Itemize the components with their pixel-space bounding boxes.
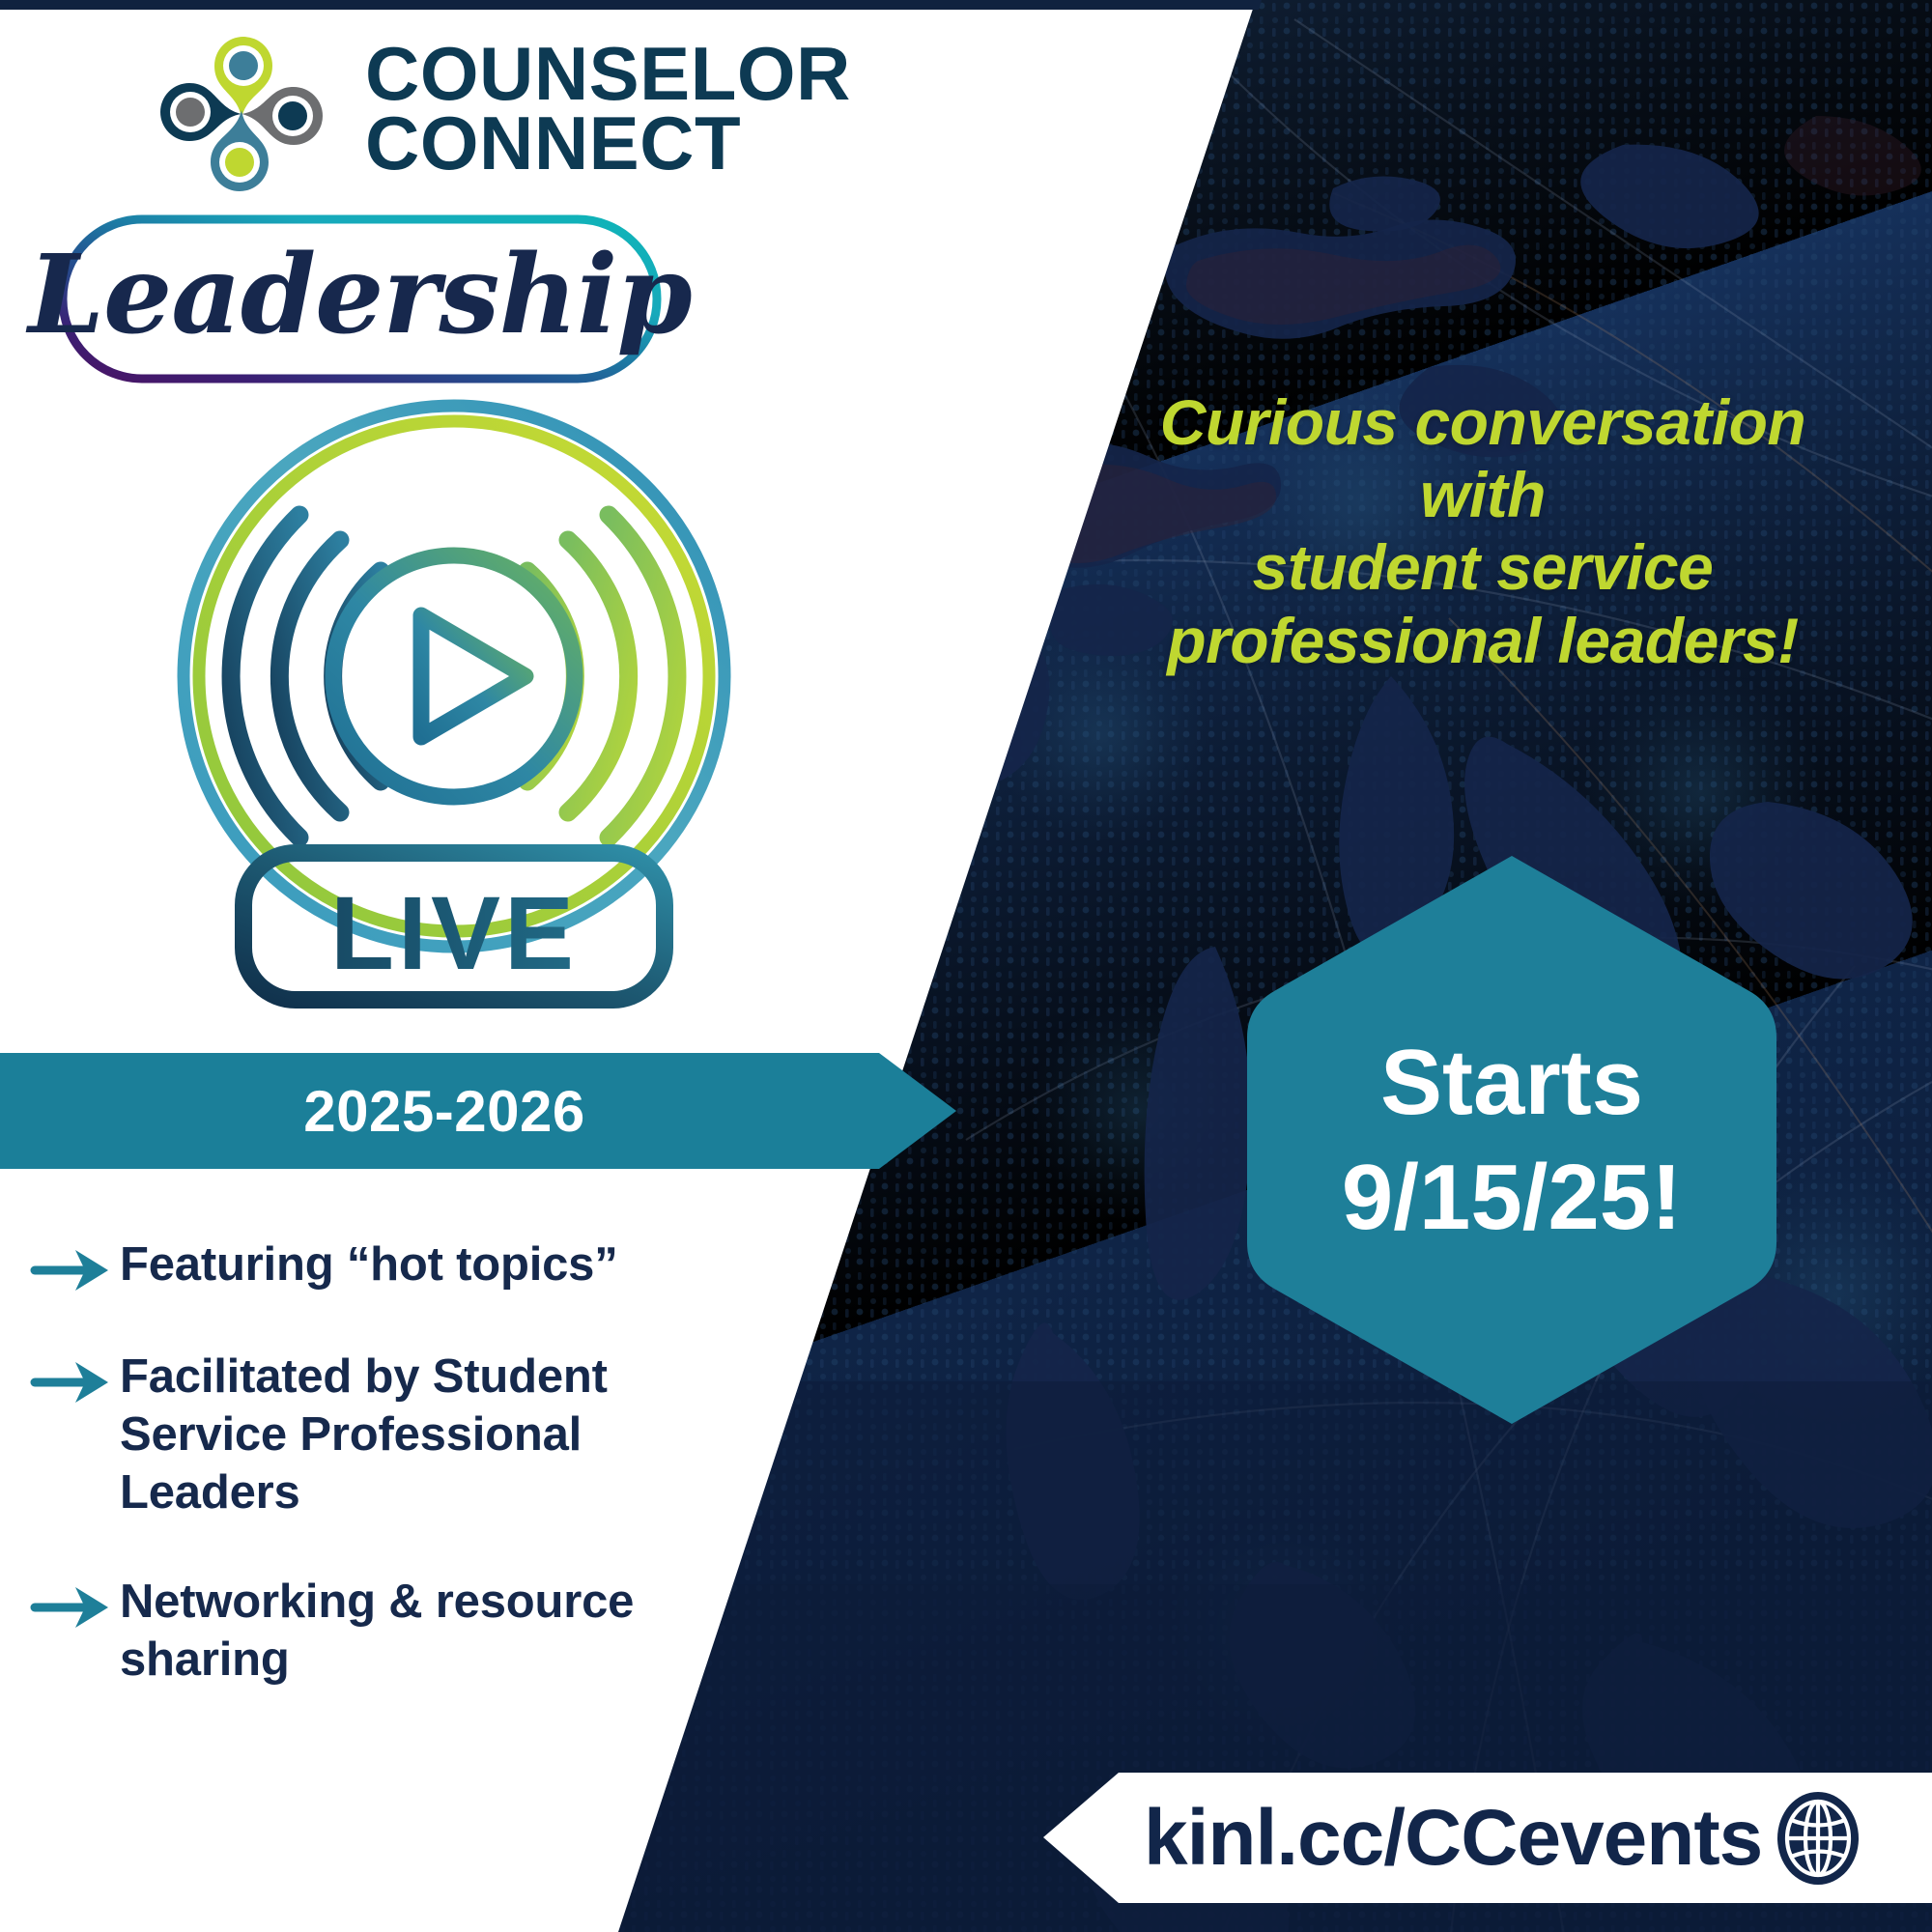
- arrow-right-icon: [29, 1244, 116, 1296]
- headline-line-2: with: [1082, 459, 1884, 531]
- list-item: Featuring “hot topics”: [29, 1236, 724, 1296]
- arrow-right-icon: [29, 1356, 116, 1408]
- start-date-line-1: Starts: [1380, 1025, 1643, 1140]
- live-badge-label: LIVE: [135, 872, 773, 993]
- year-banner-label: 2025-2026: [303, 1078, 652, 1145]
- brand-logo: COUNSELOR CONNECT: [145, 17, 851, 201]
- list-item-label: Featuring “hot topics”: [116, 1236, 618, 1294]
- headline-line-3: student service: [1082, 531, 1884, 604]
- leadership-pill: Leadership: [58, 214, 662, 384]
- brand-name-line2: CONNECT: [365, 109, 851, 179]
- list-item-label: Facilitated by Student Service Professio…: [116, 1349, 724, 1521]
- brand-name-line1: COUNSELOR: [365, 40, 851, 109]
- url-banner-label: kinl.cc/CCevents: [1144, 1793, 1762, 1884]
- list-item: Facilitated by Student Service Professio…: [29, 1349, 724, 1521]
- url-banner[interactable]: kinl.cc/CCevents: [1043, 1773, 1932, 1903]
- list-item: Networking & resource sharing: [29, 1574, 724, 1690]
- promo-poster: COUNSELOR CONNECT Leadership: [0, 0, 1932, 1932]
- feature-bullet-list: Featuring “hot topics” Facilitated by St…: [29, 1236, 724, 1690]
- year-banner: 2025-2026: [0, 1053, 956, 1169]
- leadership-script-word: Leadership: [58, 214, 662, 384]
- arrow-right-icon: [29, 1581, 116, 1634]
- counselor-connect-pinwheel-icon: [145, 17, 338, 201]
- start-date-badge: Starts 9/15/25!: [1241, 850, 1782, 1430]
- headline-line-4: professional leaders!: [1082, 605, 1884, 677]
- start-date-line-2: 9/15/25!: [1342, 1140, 1682, 1255]
- play-button-broadcast-icon: LIVE: [135, 382, 773, 1048]
- globe-icon: [1770, 1790, 1866, 1887]
- headline-text: Curious conversation with student servic…: [1082, 386, 1884, 677]
- headline-line-1: Curious conversation: [1082, 386, 1884, 459]
- list-item-label: Networking & resource sharing: [116, 1574, 724, 1690]
- top-navy-strip: [0, 0, 1294, 10]
